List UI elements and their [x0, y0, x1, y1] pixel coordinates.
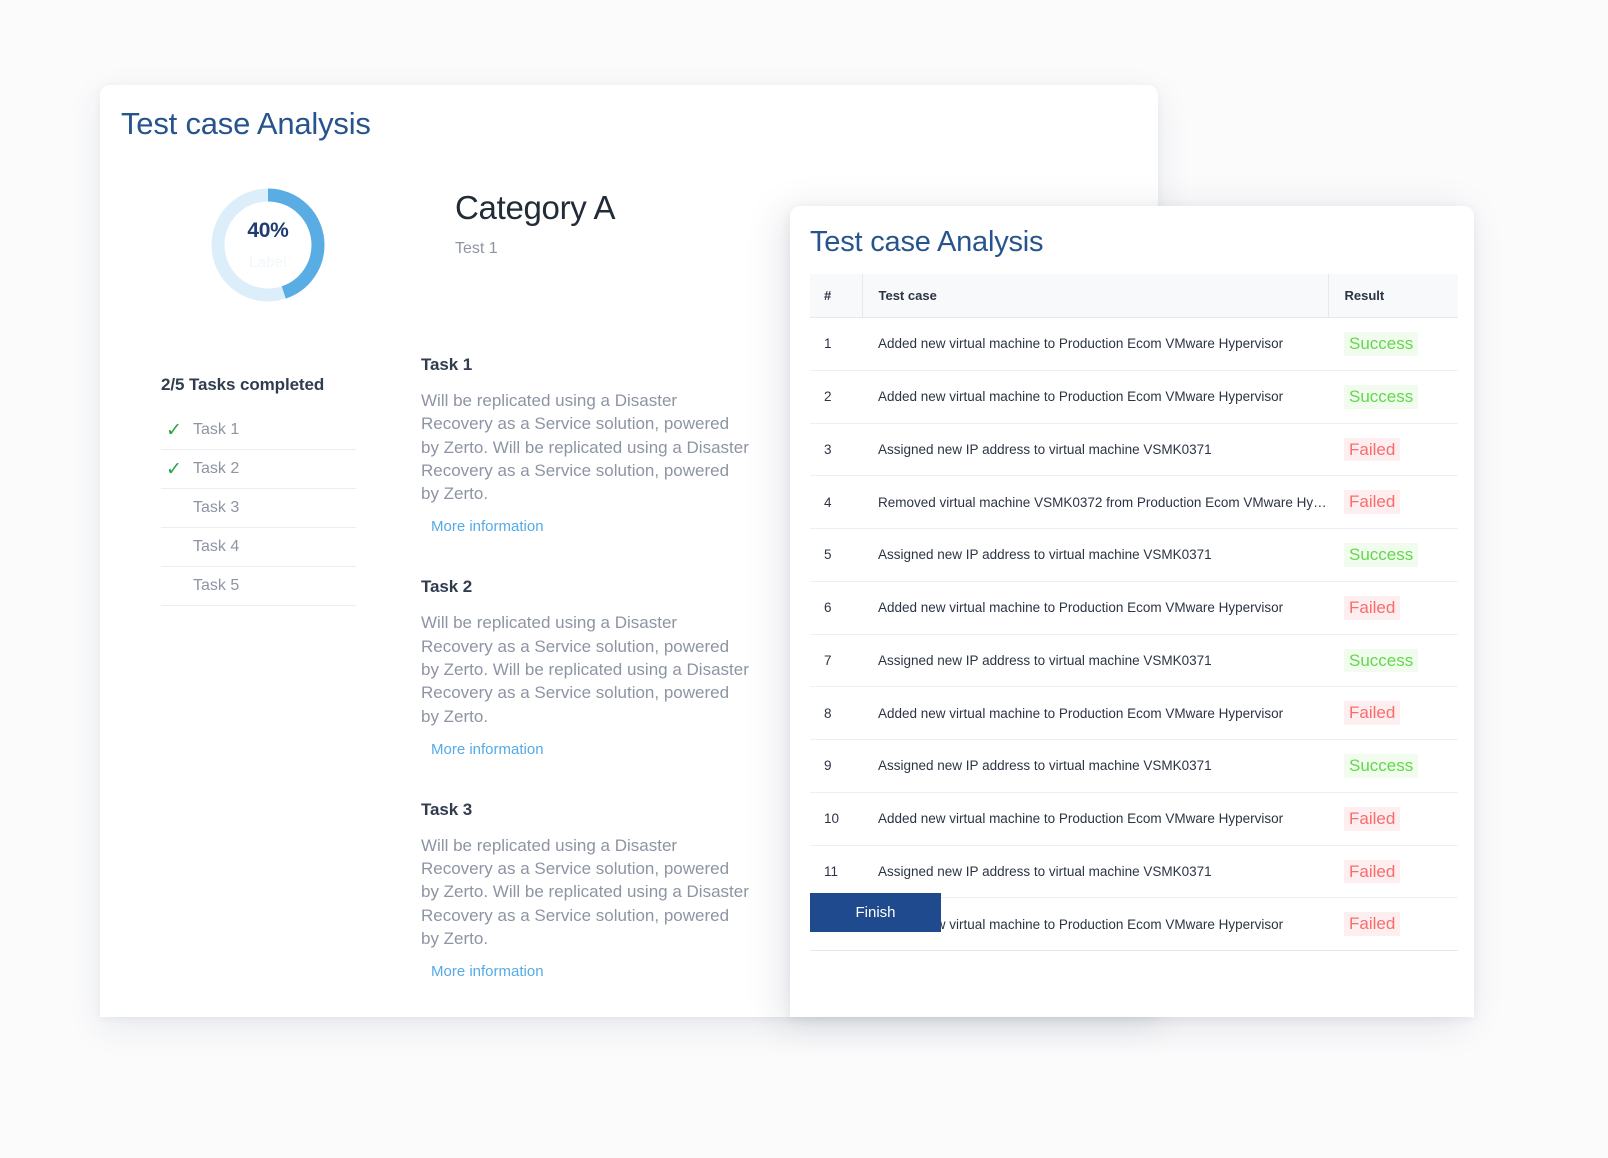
more-information-link[interactable]: More information: [431, 741, 544, 758]
task-list-item-label: Task 2: [193, 460, 239, 478]
page-title: Test case Analysis: [121, 106, 371, 142]
status-badge: Failed: [1344, 438, 1400, 462]
cell-test-case: Added new virtual machine to Production …: [862, 581, 1328, 634]
task-detail-block: Task 2 Will be replicated using a Disast…: [421, 577, 751, 758]
tasks-completed-heading: 2/5 Tasks completed: [161, 375, 356, 395]
table-row[interactable]: 2 Added new virtual machine to Productio…: [810, 370, 1458, 423]
task-list-item-label: Task 5: [193, 577, 239, 595]
results-page-title: Test case Analysis: [810, 226, 1043, 259]
status-badge: Success: [1344, 754, 1418, 778]
cell-test-case: Added new virtual machine to Production …: [862, 318, 1328, 371]
status-badge: Failed: [1344, 701, 1400, 725]
cell-result: Failed: [1328, 792, 1458, 845]
cell-test-case: Assigned new IP address to virtual machi…: [862, 529, 1328, 582]
status-badge: Failed: [1344, 807, 1400, 831]
more-information-link[interactable]: More information: [431, 963, 544, 980]
cell-number: 5: [810, 529, 862, 582]
cell-result: Failed: [1328, 845, 1458, 898]
table-row[interactable]: 1 Added new virtual machine to Productio…: [810, 318, 1458, 371]
status-badge: Failed: [1344, 860, 1400, 884]
more-information-link[interactable]: More information: [431, 518, 544, 535]
cell-result: Failed: [1328, 687, 1458, 740]
task-detail-title: Task 1: [421, 355, 751, 375]
cell-number: 11: [810, 845, 862, 898]
task-detail-block: Task 1 Will be replicated using a Disast…: [421, 355, 751, 536]
task-list-item-label: Task 1: [193, 421, 239, 439]
cell-number: 3: [810, 423, 862, 476]
table-row[interactable]: 7 Assigned new IP address to virtual mac…: [810, 634, 1458, 687]
table-row[interactable]: 9 Assigned new IP address to virtual mac…: [810, 740, 1458, 793]
cell-result: Failed: [1328, 476, 1458, 529]
table-row[interactable]: 3 Assigned new IP address to virtual mac…: [810, 423, 1458, 476]
cell-number: 6: [810, 581, 862, 634]
cell-test-case: Assigned new IP address to virtual machi…: [862, 740, 1328, 793]
status-badge: Failed: [1344, 596, 1400, 620]
task-list-item[interactable]: Task 5: [161, 567, 356, 606]
task-detail-block: Task 3 Will be replicated using a Disast…: [421, 800, 751, 981]
status-badge: Success: [1344, 332, 1418, 356]
test-case-analysis-results-card: Test case Analysis # Test case Result 1 …: [790, 206, 1474, 1017]
check-icon: ✓: [161, 460, 193, 479]
cell-test-case: Added new virtual machine to Production …: [862, 792, 1328, 845]
status-badge: Success: [1344, 543, 1418, 567]
cell-test-case: Assigned new IP address to virtual machi…: [862, 845, 1328, 898]
cell-test-case: Assigned new IP address to virtual machi…: [862, 423, 1328, 476]
status-badge: Success: [1344, 649, 1418, 673]
cell-number: 4: [810, 476, 862, 529]
table-row[interactable]: 6 Added new virtual machine to Productio…: [810, 581, 1458, 634]
task-detail-body: Will be replicated using a Disaster Reco…: [421, 611, 751, 727]
cell-test-case: Removed virtual machine VSMK0372 from Pr…: [862, 476, 1328, 529]
cell-result: Success: [1328, 529, 1458, 582]
cell-number: 10: [810, 792, 862, 845]
task-list-item-label: Task 3: [193, 499, 239, 517]
cell-result: Failed: [1328, 898, 1458, 951]
task-list-item[interactable]: ✓ Task 1: [161, 411, 356, 450]
task-detail-title: Task 3: [421, 800, 751, 820]
category-title: Category A: [455, 190, 785, 226]
cell-number: 2: [810, 370, 862, 423]
task-list-item-label: Task 4: [193, 538, 239, 556]
cell-test-case: Assigned new IP address to virtual machi…: [862, 634, 1328, 687]
task-list-item[interactable]: Task 3: [161, 489, 356, 528]
cell-test-case: Added new virtual machine to Production …: [862, 370, 1328, 423]
task-detail-body: Will be replicated using a Disaster Reco…: [421, 834, 751, 950]
cell-number: 7: [810, 634, 862, 687]
cell-result: Success: [1328, 740, 1458, 793]
test-case-results-table: # Test case Result 1 Added new virtual m…: [810, 274, 1458, 951]
tasks-checklist: 2/5 Tasks completed ✓ Task 1 ✓ Task 2 Ta…: [161, 375, 356, 606]
cell-result: Failed: [1328, 423, 1458, 476]
cell-result: Success: [1328, 318, 1458, 371]
finish-button[interactable]: Finish: [810, 893, 941, 932]
table-body: 1 Added new virtual machine to Productio…: [810, 318, 1458, 951]
cell-result: Success: [1328, 370, 1458, 423]
task-list-item[interactable]: ✓ Task 2: [161, 450, 356, 489]
table-header: # Test case Result: [810, 274, 1458, 318]
task-detail-list: Task 1 Will be replicated using a Disast…: [421, 355, 751, 1017]
cell-number: 1: [810, 318, 862, 371]
category-subtitle: Test 1: [455, 240, 785, 258]
status-badge: Failed: [1344, 912, 1400, 936]
table-header-row: # Test case Result: [810, 274, 1458, 318]
cell-number: 9: [810, 740, 862, 793]
task-detail-body: Will be replicated using a Disaster Reco…: [421, 389, 751, 505]
cell-test-case: Added new virtual machine to Production …: [862, 687, 1328, 740]
cell-result: Failed: [1328, 581, 1458, 634]
category-header: Category A Test 1: [455, 190, 785, 258]
table-row[interactable]: 8 Added new virtual machine to Productio…: [810, 687, 1458, 740]
cell-number: 8: [810, 687, 862, 740]
progress-inner-label: Label: [249, 255, 287, 270]
task-list-item[interactable]: Task 4: [161, 528, 356, 567]
cell-result: Success: [1328, 634, 1458, 687]
table-row[interactable]: 4 Removed virtual machine VSMK0372 from …: [810, 476, 1458, 529]
status-badge: Success: [1344, 385, 1418, 409]
column-header-result: Result: [1328, 274, 1458, 318]
column-header-test-case: Test case: [862, 274, 1328, 318]
task-detail-title: Task 2: [421, 577, 751, 597]
progress-donut-chart: 40% Label: [208, 185, 328, 305]
table-row[interactable]: 5 Assigned new IP address to virtual mac…: [810, 529, 1458, 582]
status-badge: Failed: [1344, 490, 1400, 514]
check-icon: ✓: [161, 421, 193, 440]
table-row[interactable]: 11 Assigned new IP address to virtual ma…: [810, 845, 1458, 898]
table-row[interactable]: 10 Added new virtual machine to Producti…: [810, 792, 1458, 845]
progress-percent-label: 40%: [247, 220, 288, 241]
column-header-number: #: [810, 274, 862, 318]
